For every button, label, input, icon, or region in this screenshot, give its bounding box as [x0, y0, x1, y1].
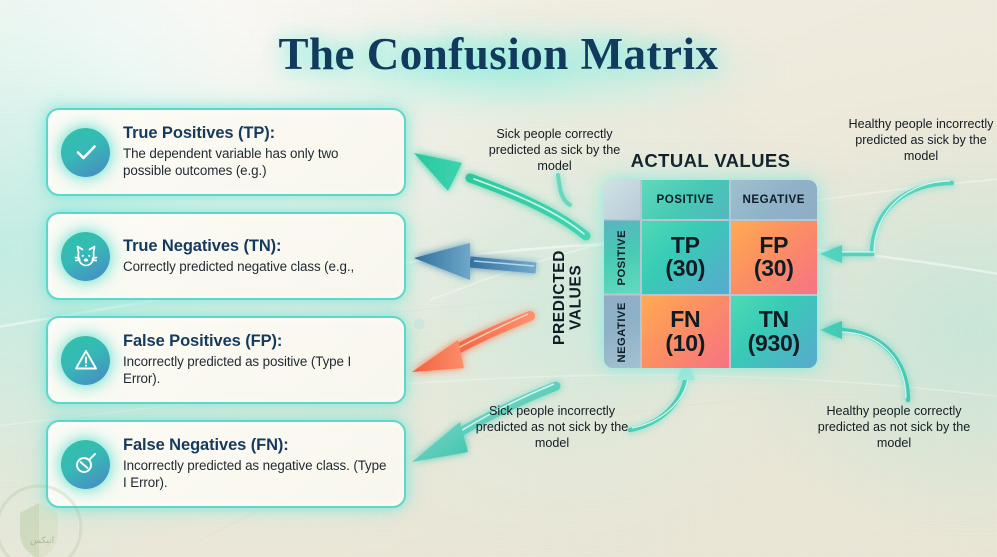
card-description: Incorrectly predicted as positive (Type … [123, 353, 390, 389]
definition-card-false-positives[interactable]: False Positives (FP): Incorrectly predic… [46, 316, 406, 404]
cell-label: FP [759, 234, 788, 257]
card-title: True Negatives (TN): [123, 237, 390, 256]
matrix-col-header-positive: POSITIVE [642, 180, 729, 219]
card-description: The dependent variable has only two poss… [123, 145, 390, 181]
definition-card-true-positives[interactable]: True Positives (TP): The dependent varia… [46, 108, 406, 196]
cell-value: (10) [665, 332, 705, 355]
annotation-top-right: Healthy people incorrectly predicted as … [846, 117, 996, 165]
annotation-bottom-right: Healthy people correctly predicted as no… [804, 404, 984, 452]
card-title: True Positives (TP): [123, 124, 390, 143]
cell-label: FN [670, 308, 700, 331]
matrix-row-header-negative: NEGATIVE [604, 296, 640, 369]
annotation-top-left: Sick people correctly predicted as sick … [472, 127, 637, 175]
confusion-matrix: POSITIVE NEGATIVE POSITIVE TP (30) FP (3… [604, 180, 817, 368]
cat-face-icon [61, 232, 110, 281]
matrix-cell-tp[interactable]: TP (30) [642, 221, 729, 294]
cell-value: (30) [754, 257, 794, 280]
matrix-cell-tn[interactable]: TN (930) [731, 296, 818, 369]
matrix-col-header-negative: NEGATIVE [731, 180, 818, 219]
infographic-canvas: The Confusion Matrix True Positives (TP)… [0, 0, 997, 557]
check-circle-icon [61, 128, 110, 177]
cell-label: TN [759, 308, 789, 331]
predicted-values-header: PREDICTED VALUES [536, 232, 602, 362]
card-description: Correctly predicted negative class (e.g.… [123, 258, 390, 276]
cell-label: TP [671, 234, 700, 257]
definition-card-list: True Positives (TP): The dependent varia… [46, 108, 406, 524]
cell-value: (930) [748, 332, 800, 355]
card-description: Incorrectly predicted as negative class.… [123, 457, 390, 493]
watermark-text: انیکس [30, 535, 54, 546]
definition-card-true-negatives[interactable]: True Negatives (TN): Correctly predicted… [46, 212, 406, 300]
matrix-corner-cell [604, 180, 640, 219]
card-title: False Negatives (FN): [123, 436, 390, 455]
definition-card-false-negatives[interactable]: False Negatives (FN): Incorrectly predic… [46, 420, 406, 508]
card-title: False Positives (FP): [123, 332, 390, 351]
matrix-cell-fn[interactable]: FN (10) [642, 296, 729, 369]
warning-triangle-icon [61, 336, 110, 385]
predicted-values-label: PREDICTED VALUES [552, 250, 585, 345]
matrix-cell-fp[interactable]: FP (30) [731, 221, 818, 294]
matrix-row-header-positive: POSITIVE [604, 221, 640, 294]
page-title: The Confusion Matrix [0, 28, 997, 80]
cell-value: (30) [665, 257, 705, 280]
annotation-bottom-left: Sick people incorrectly predicted as not… [468, 404, 636, 452]
